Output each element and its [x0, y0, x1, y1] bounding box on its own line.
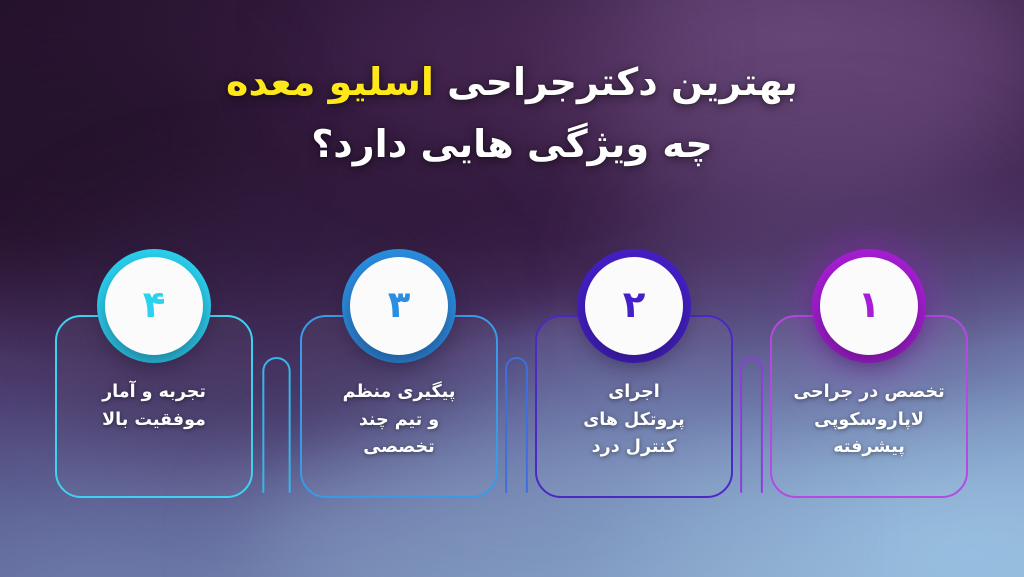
card-text-line: پیگیری منظم — [310, 379, 488, 407]
feature-card-۴[interactable]: ۴تجربه و آمارموفقیت بالا — [55, 315, 253, 498]
card-text-۴: تجربه و آمارموفقیت بالا — [65, 379, 243, 434]
title-highlight: اسلیو معده — [226, 60, 434, 104]
step-number-۲: ۲ — [623, 286, 646, 323]
background-blob-2 — [330, 0, 660, 150]
feature-card-۲[interactable]: ۲اجرایپروتکل هایکنترل درد — [535, 315, 733, 498]
card-text-line: تخصص در جراحی — [780, 379, 958, 407]
feature-card-۳[interactable]: ۳پیگیری منظمو تیم چندتخصصی — [300, 315, 498, 498]
step-badge-۳[interactable]: ۳ — [350, 257, 448, 355]
card-text-۱: تخصص در جراحیلاپاروسکوپیپیشرفته — [780, 379, 958, 462]
connector-arch — [263, 358, 289, 492]
card-text-۳: پیگیری منظمو تیم چندتخصصی — [310, 379, 488, 462]
step-badge-۱[interactable]: ۱ — [820, 257, 918, 355]
background-blob-3 — [0, 20, 240, 250]
step-badge-۴[interactable]: ۴ — [105, 257, 203, 355]
card-text-line: لاپاروسکوپی — [780, 407, 958, 435]
infographic-canvas: بهترین دکترجراحی اسلیو معده چه ویژگی های… — [0, 0, 1024, 577]
title-line-1-text: بهترین دکترجراحی — [434, 60, 798, 104]
card-text-line: پیشرفته — [780, 434, 958, 462]
background-blob-1 — [560, 0, 1024, 210]
step-number-۴: ۴ — [143, 286, 166, 323]
page-title: بهترین دکترجراحی اسلیو معده چه ویژگی های… — [0, 52, 1024, 175]
card-text-line: تخصصی — [310, 434, 488, 462]
feature-card-۱[interactable]: ۱تخصص در جراحیلاپاروسکوپیپیشرفته — [770, 315, 968, 498]
card-text-۲: اجرایپروتکل هایکنترل درد — [545, 379, 723, 462]
card-text-line: کنترل درد — [545, 434, 723, 462]
card-text-line: و تیم چند — [310, 407, 488, 435]
card-text-line: اجرای — [545, 379, 723, 407]
card-text-line: پروتکل های — [545, 407, 723, 435]
step-number-۳: ۳ — [388, 286, 411, 323]
title-line-2: چه ویژگی هایی دارد؟ — [0, 114, 1024, 176]
card-text-line: تجربه و آمار — [65, 379, 243, 407]
card-text-line: موفقیت بالا — [65, 407, 243, 435]
title-line-1: بهترین دکترجراحی اسلیو معده — [0, 52, 1024, 114]
step-number-۱: ۱ — [858, 286, 881, 323]
connector-arch — [741, 358, 762, 492]
step-badge-۲[interactable]: ۲ — [585, 257, 683, 355]
connector-arch — [506, 358, 527, 492]
